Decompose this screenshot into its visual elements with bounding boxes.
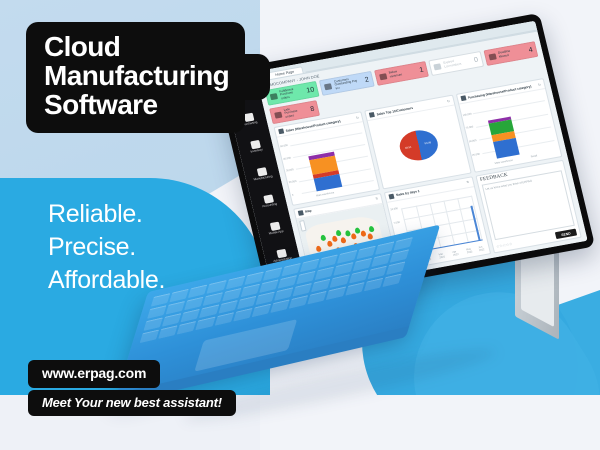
chart-top-customers: 50.49 49.51 (368, 105, 470, 187)
promo-banner: Cloud Manufacturing Software Reliable. P… (0, 0, 600, 450)
ledger-icon (263, 194, 274, 203)
key (337, 250, 357, 264)
sidebar-item-label: Mobile App (269, 230, 284, 236)
send-button[interactable]: SEND (554, 229, 577, 240)
panel-sales-category: Sales (Warehouse/Product category) ↻ 50,… (274, 111, 381, 205)
pie-chart (397, 127, 441, 163)
kpi-line-2: Outstanding Pay inv (334, 79, 361, 90)
gear-icon (276, 249, 287, 258)
key (225, 276, 245, 290)
kpi-value: 1 (417, 66, 424, 74)
clock-icon (434, 63, 442, 70)
key (326, 286, 346, 300)
tagline: Reliable. Precise. Affordable. (48, 198, 165, 297)
key (270, 299, 290, 313)
key (218, 300, 238, 314)
key (352, 258, 372, 272)
map-zoom-control[interactable] (299, 220, 306, 232)
chart-icon (278, 128, 284, 134)
phone-icon (269, 222, 280, 231)
headline-box: Cloud Manufacturing Software (26, 22, 245, 133)
tagline-line-3: Affordable. (48, 264, 165, 297)
factory-icon (256, 167, 267, 176)
key (203, 292, 223, 306)
key (334, 262, 354, 276)
chart-icon (460, 95, 466, 101)
key (199, 304, 219, 318)
key (307, 291, 327, 305)
key (393, 237, 413, 251)
warning-icon (379, 73, 387, 80)
kpi-line-2: Purchase orders (284, 108, 306, 119)
headline-line-3: Software (44, 90, 229, 119)
key (207, 280, 227, 294)
refresh-icon[interactable]: ↻ (375, 196, 379, 200)
key (345, 282, 365, 296)
panel-top-customers: Sales Top 10/Customers ↻ 50.49 49.51 (365, 95, 472, 189)
kpi-value: 0 (471, 56, 478, 64)
website-url: www.erpag.com (42, 365, 146, 381)
key (289, 295, 309, 309)
map-pin (367, 233, 373, 240)
kpi-value: 2 (362, 76, 369, 84)
cart-icon (488, 53, 496, 60)
line-chart-icon (389, 193, 395, 199)
key (244, 271, 264, 285)
pie-chart-icon (369, 112, 375, 118)
kpi-line-2: Purchase orders (280, 90, 303, 101)
key (330, 274, 350, 288)
chart-purchasing-category: 100,000 75,000 50,000 25,000 (459, 89, 561, 171)
key (389, 249, 409, 263)
key (363, 278, 383, 292)
sidebar-item-label: Accounting (262, 203, 277, 209)
truck-icon (270, 93, 278, 100)
map-pin (344, 230, 350, 237)
key (237, 296, 257, 310)
key (371, 253, 391, 267)
kpi-value: 4 (526, 46, 533, 54)
tagline-line-2: Precise. (48, 231, 165, 264)
key (348, 270, 368, 284)
sidebar-item-label: Manufacturing (253, 175, 272, 181)
key (386, 261, 406, 275)
key (140, 329, 160, 343)
key (356, 246, 376, 260)
key (382, 273, 402, 287)
website-url-pill[interactable]: www.erpag.com (28, 360, 160, 388)
tagline-line-1: Reliable. (48, 198, 165, 231)
key (240, 284, 260, 298)
map-icon (298, 210, 304, 216)
box-icon (250, 140, 261, 149)
map-pin (331, 235, 337, 242)
key (233, 308, 253, 322)
panel-purchasing-category: Purchasing (Warehouse/Product category) … (455, 78, 562, 172)
key (367, 266, 387, 280)
key (214, 312, 234, 326)
headline-line-2: Manufacturing (44, 61, 229, 90)
key (196, 316, 216, 330)
refresh-icon[interactable]: ↻ (466, 180, 470, 184)
key (158, 325, 178, 339)
user-icon (324, 83, 332, 90)
refresh-icon[interactable]: ↻ (447, 99, 451, 103)
panel-feedback: FEEDBACK Let us know what you think of E… (475, 159, 582, 253)
star-rating[interactable]: ☆☆☆☆☆ (496, 241, 513, 249)
kpi-value: 8 (308, 105, 315, 113)
headline-line-1: Cloud (44, 32, 229, 61)
key (251, 304, 271, 318)
truck-icon (274, 112, 282, 119)
refresh-icon[interactable]: ↻ (538, 82, 542, 86)
key (177, 321, 197, 335)
key (375, 241, 395, 255)
assistant-tagline: Meet Your new best assistant! (42, 395, 222, 410)
assistant-tagline-pill: Meet Your new best assistant! (28, 390, 236, 416)
chart-sales-category: 50,000 40,000 30,000 20,000 0 (277, 122, 379, 204)
refresh-icon[interactable]: ↻ (356, 115, 360, 119)
key (222, 288, 242, 302)
kpi-value: 10 (304, 86, 315, 95)
